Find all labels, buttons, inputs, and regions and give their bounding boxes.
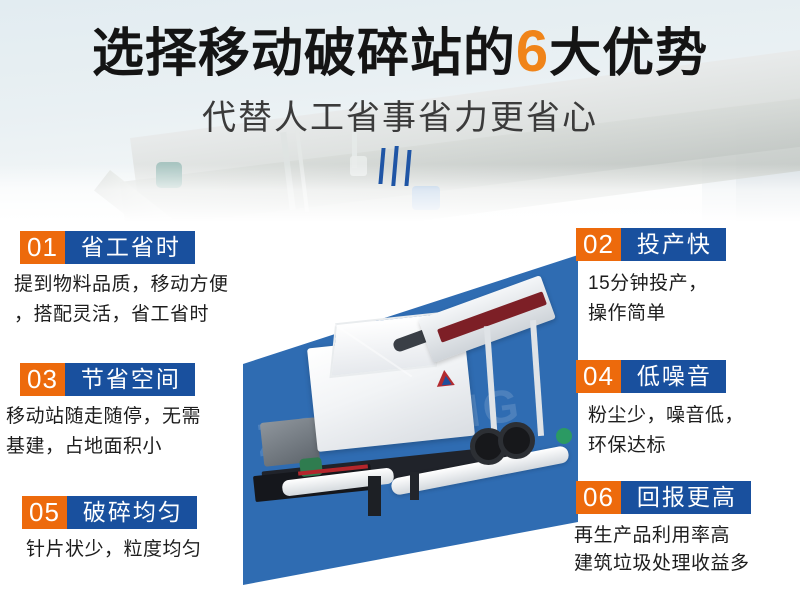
feature-body-06: 再生产品利用率高 建筑垃圾处理收益多 xyxy=(568,522,800,578)
feature-card-02[interactable]: 02 投产快 15分钟投产， 操作简单 xyxy=(568,228,800,329)
divider-bar-3 xyxy=(404,150,411,186)
machine-support-leg-2 xyxy=(410,472,419,500)
feature-badge-05: 05 破碎均匀 xyxy=(22,496,240,529)
feature-body-03: 移动站随走随停，无需 基建，占地面积小 xyxy=(0,402,240,462)
feature-title-04: 低噪音 xyxy=(621,360,726,393)
machine-support-leg xyxy=(368,476,381,516)
feature-badge-06: 06 回报更高 xyxy=(576,481,800,514)
feature-body-06-line-2: 建筑垃圾处理收益多 xyxy=(574,550,800,578)
feature-body-02-line-1: 15分钟投产， xyxy=(588,269,800,299)
feature-card-04[interactable]: 04 低噪音 粉尘少，噪音低， 环保达标 xyxy=(568,360,800,461)
hero-divider-marks xyxy=(0,146,800,188)
machine-support-frame-left xyxy=(484,326,498,444)
feature-card-01[interactable]: 01 省工省时 提到物料品质，移动方便 ，搭配灵活，省工省时 xyxy=(0,231,240,330)
page-subtitle: 代替人工省事省力更省心 xyxy=(0,97,800,139)
machine-wheel-rear xyxy=(498,422,535,459)
feature-number-01: 01 xyxy=(20,231,65,264)
machine-support-frame-right xyxy=(530,320,544,436)
hero-banner: 选择移动破碎站的6大优势 代替人工省事省力更省心 xyxy=(0,0,800,222)
feature-body-02-line-2: 操作简单 xyxy=(588,299,800,329)
feature-badge-01: 01 省工省时 xyxy=(20,231,240,264)
feature-body-04-line-2: 环保达标 xyxy=(588,431,800,461)
divider-bar-1 xyxy=(378,148,385,184)
feature-body-04-line-1: 粉尘少，噪音低， xyxy=(588,401,800,431)
feature-title-03: 节省空间 xyxy=(65,363,195,396)
feature-body-01: 提到物料品质，移动方便 ，搭配灵活，省工省时 xyxy=(0,270,240,330)
feature-body-02: 15分钟投产， 操作简单 xyxy=(568,269,800,329)
feature-body-01-line-1: 提到物料品质，移动方便 xyxy=(14,270,240,300)
feature-body-01-line-2: ，搭配灵活，省工省时 xyxy=(14,300,240,330)
feature-body-05: 针片状少，粒度均匀 xyxy=(0,535,240,565)
poster-root: 选择移动破碎站的6大优势 代替人工省事省力更省心 ZONEDING xyxy=(0,0,800,600)
feature-title-01: 省工省时 xyxy=(65,231,195,264)
center-product-stage: ZONEDING xyxy=(240,222,585,600)
feature-body-03-line-1: 移动站随走随停，无需 xyxy=(6,402,240,432)
crushing-plant-illustration xyxy=(240,222,585,600)
feature-body-06-line-1: 再生产品利用率高 xyxy=(574,522,800,550)
feature-badge-04: 04 低噪音 xyxy=(576,360,800,393)
machine-brand-logo-icon xyxy=(435,369,455,387)
feature-number-04: 04 xyxy=(576,360,621,393)
page-title-prefix: 选择移动破碎站的 xyxy=(92,25,516,83)
page-title: 选择移动破碎站的6大优势 xyxy=(0,22,800,84)
feature-body-05-line-1: 针片状少，粒度均匀 xyxy=(26,535,240,565)
feature-number-03: 03 xyxy=(20,363,65,396)
feature-number-06: 06 xyxy=(576,481,621,514)
feature-card-03[interactable]: 03 节省空间 移动站随走随停，无需 基建，占地面积小 xyxy=(0,363,240,462)
divider-bar-2 xyxy=(391,146,398,186)
feature-body-04: 粉尘少，噪音低， 环保达标 xyxy=(568,401,800,461)
page-title-suffix: 大优势 xyxy=(549,25,708,83)
feature-number-02: 02 xyxy=(576,228,621,261)
feature-card-06[interactable]: 06 回报更高 再生产品利用率高 建筑垃圾处理收益多 xyxy=(568,481,800,578)
feature-title-05: 破碎均匀 xyxy=(67,496,197,529)
feature-title-02: 投产快 xyxy=(621,228,726,261)
feature-title-06: 回报更高 xyxy=(621,481,751,514)
feature-body-03-line-2: 基建，占地面积小 xyxy=(6,432,240,462)
feature-badge-03: 03 节省空间 xyxy=(20,363,240,396)
feature-card-05[interactable]: 05 破碎均匀 针片状少，粒度均匀 xyxy=(0,496,240,565)
feature-badge-02: 02 投产快 xyxy=(576,228,800,261)
page-title-number: 6 xyxy=(516,19,549,84)
feature-number-05: 05 xyxy=(22,496,67,529)
